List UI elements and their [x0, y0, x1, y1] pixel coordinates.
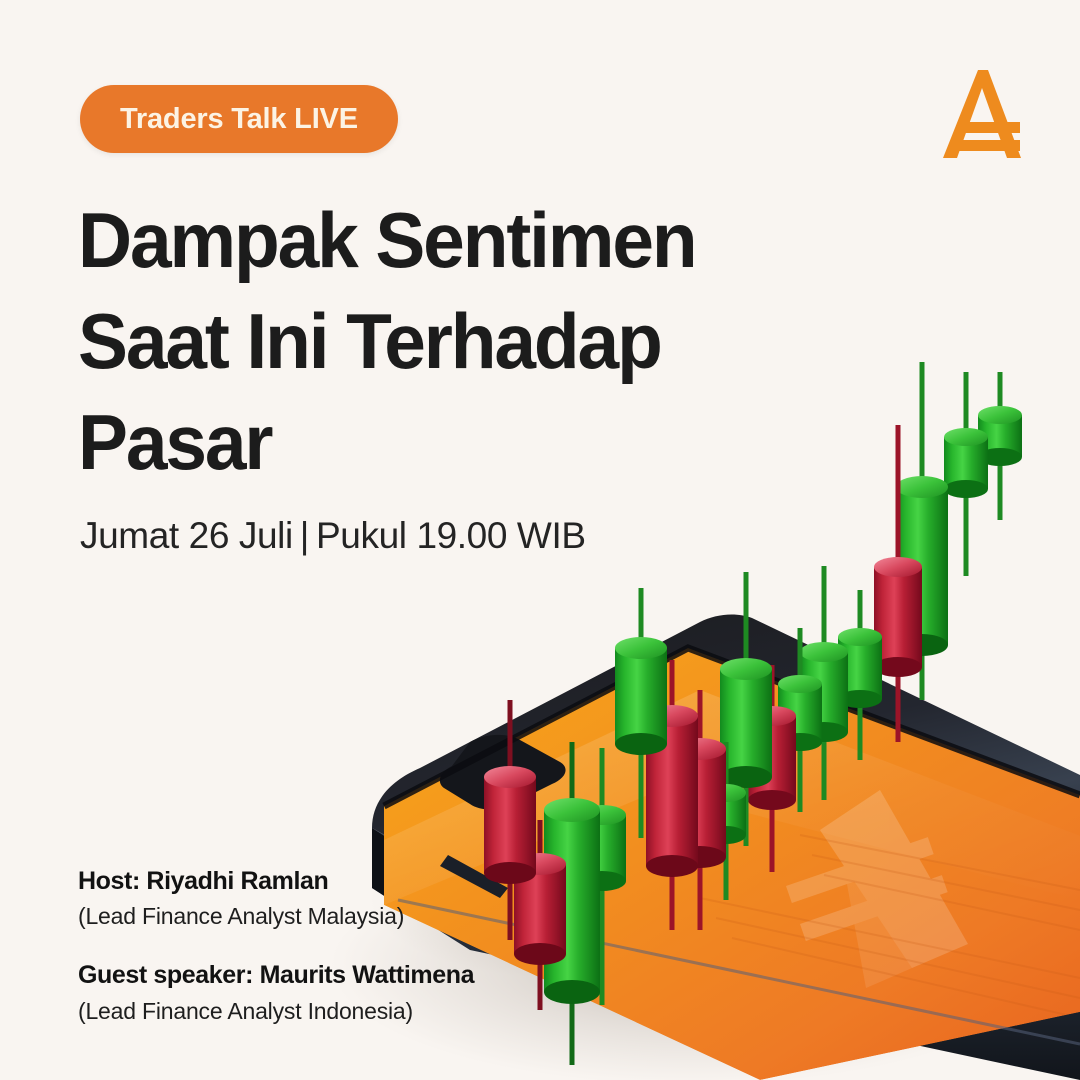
schedule-separator: |	[293, 515, 316, 556]
promo-poster: Traders Talk LIVE Dampak Sentimen Saat I…	[0, 0, 1080, 1080]
speaker-credits: Host: Riyadhi Ramlan (Lead Finance Analy…	[78, 866, 638, 1027]
schedule-time: Pukul 19.00 WIB	[316, 515, 586, 556]
host-name: Host: Riyadhi Ramlan	[78, 866, 638, 897]
headline-line-1: Dampak Sentimen	[78, 190, 827, 291]
guest-credit: Guest speaker: Maurits Wattimena (Lead F…	[78, 960, 638, 1026]
guest-role: (Lead Finance Analyst Indonesia)	[78, 996, 638, 1027]
headline-line-3: Pasar	[78, 392, 827, 493]
headline-line-2: Saat Ini Terhadap	[78, 291, 827, 392]
live-badge-label: Traders Talk LIVE	[120, 103, 358, 136]
host-role: (Lead Finance Analyst Malaysia)	[78, 901, 638, 932]
ajaib-a-logo	[928, 60, 1036, 168]
schedule-line: Jumat 26 Juli|Pukul 19.00 WIB	[80, 515, 586, 557]
schedule-date: Jumat 26 Juli	[80, 515, 293, 556]
page-title: Dampak Sentimen Saat Ini Terhadap Pasar	[78, 190, 827, 493]
live-badge[interactable]: Traders Talk LIVE	[80, 85, 398, 153]
guest-name: Guest speaker: Maurits Wattimena	[78, 960, 638, 991]
host-credit: Host: Riyadhi Ramlan (Lead Finance Analy…	[78, 866, 638, 932]
